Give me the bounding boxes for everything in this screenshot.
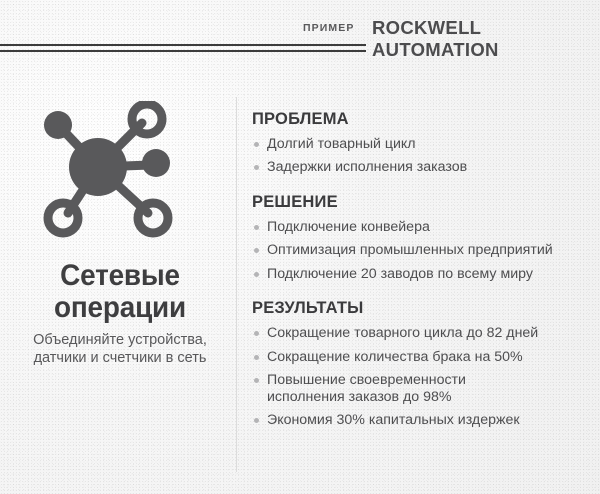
example-label: ПРИМЕР xyxy=(303,22,354,34)
bullet-text-line: исполнения заказов до 98% xyxy=(267,389,592,406)
left-title-line-2: операции xyxy=(16,292,224,324)
bullet-item: Оптимизация промышленных предприятий xyxy=(252,242,592,259)
bullet-item: Сокращение товарного цикла до 82 дней xyxy=(252,325,592,342)
icon-container xyxy=(8,96,232,256)
right-panel: ПРОБЛЕМАДолгий товарный циклЗадержки исп… xyxy=(252,110,592,429)
content-section: РЕЗУЛЬТАТЫСокращение товарного цикла до … xyxy=(252,299,592,428)
brand-line-1: ROCKWELL xyxy=(372,17,499,39)
bullet-text-line: Оптимизация промышленных предприятий xyxy=(267,242,592,259)
slide-canvas: ПРИМЕР ROCKWELL AUTOMATION xyxy=(0,0,600,494)
bullet-text-line: Сокращение товарного цикла до 82 дней xyxy=(267,325,592,342)
section-title: РЕЗУЛЬТАТЫ xyxy=(252,299,592,318)
bullet-item: Долгий товарный цикл xyxy=(252,136,592,153)
brand-line-2: AUTOMATION xyxy=(372,39,499,61)
bullet-item: Сокращение количества брака на 50% xyxy=(252,349,592,366)
left-panel-subtitle: Объединяйте устройства, датчики и счетчи… xyxy=(8,331,232,368)
bullet-item: Подключение 20 заводов по всему миру xyxy=(252,266,592,283)
bullet-text-line: Повышение своевременности xyxy=(267,372,592,389)
content-section: РЕШЕНИЕПодключение конвейераОптимизация … xyxy=(252,193,592,282)
bullet-text-line: Подключение 20 заводов по всему миру xyxy=(267,266,592,283)
left-panel: Сетевые операции Объединяйте устройства,… xyxy=(8,96,232,367)
left-subtitle-line-2: датчики и счетчики в сеть xyxy=(8,349,232,367)
bullet-item: Экономия 30% капитальных издержек xyxy=(252,412,592,429)
bullet-item: Задержки исполнения заказов xyxy=(252,159,592,176)
content-section: ПРОБЛЕМАДолгий товарный циклЗадержки исп… xyxy=(252,110,592,176)
header-rule-bottom xyxy=(0,50,366,52)
header: ПРИМЕР ROCKWELL AUTOMATION xyxy=(0,0,600,66)
header-rule-top xyxy=(0,44,366,46)
column-divider xyxy=(236,97,237,472)
left-subtitle-line-1: Объединяйте устройства, xyxy=(8,331,232,349)
left-title-line-1: Сетевые xyxy=(16,260,224,292)
left-panel-title: Сетевые операции xyxy=(16,260,224,324)
bullet-text-line: Сокращение количества брака на 50% xyxy=(267,349,592,366)
bullet-list: Подключение конвейераОптимизация промышл… xyxy=(252,219,592,282)
bullet-list: Сокращение товарного цикла до 82 днейСок… xyxy=(252,325,592,428)
network-hub-icon xyxy=(32,101,208,251)
bullet-text-line: Экономия 30% капитальных издержек xyxy=(267,412,592,429)
bullet-list: Долгий товарный циклЗадержки исполнения … xyxy=(252,136,592,176)
brand-logo: ROCKWELL AUTOMATION xyxy=(372,17,499,61)
section-title: РЕШЕНИЕ xyxy=(252,193,592,212)
bullet-item: Повышение своевременностиисполнения зака… xyxy=(252,372,592,406)
bullet-item: Подключение конвейера xyxy=(252,219,592,236)
section-title: ПРОБЛЕМА xyxy=(252,110,592,129)
bullet-text-line: Подключение конвейера xyxy=(267,219,592,236)
bullet-text-line: Задержки исполнения заказов xyxy=(267,159,592,176)
bullet-text-line: Долгий товарный цикл xyxy=(267,136,592,153)
